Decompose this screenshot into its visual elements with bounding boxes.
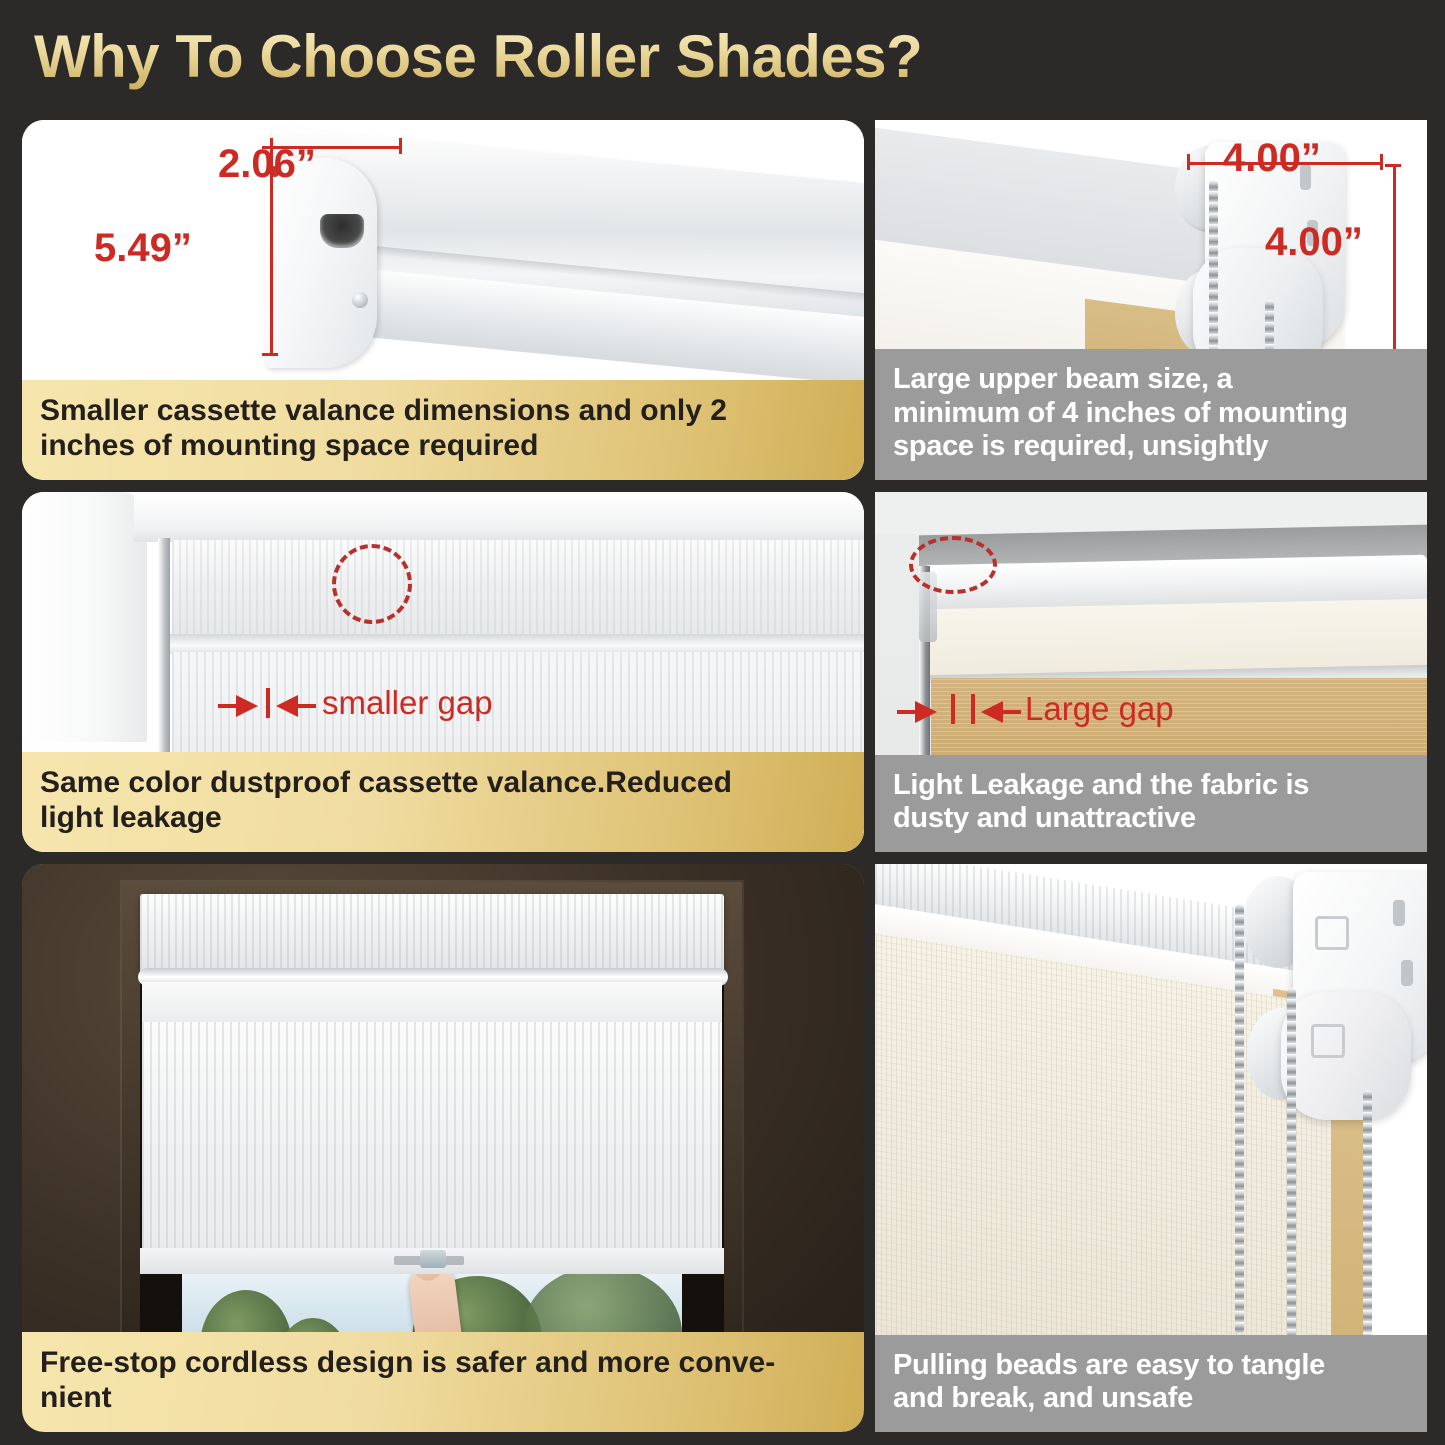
caption-line: Free-stop cordless design is safer and m… — [40, 1346, 846, 1381]
window-frame-header — [134, 496, 864, 542]
gap-highlight-circle — [332, 544, 412, 624]
caption-pulling-beads: Pulling beads are easy to tangle and bre… — [875, 1335, 1427, 1432]
height-dimension-label: 5.49” — [94, 226, 192, 271]
beam-width-dimension-label: 4.00” — [1223, 136, 1321, 181]
mounting-bracket-lower — [1281, 992, 1411, 1120]
beam-height-dimension-line — [1393, 164, 1396, 364]
caption-line: Pulling beads are easy to tangle — [893, 1349, 1409, 1383]
beam-width-tick-left — [1187, 154, 1190, 170]
caption-cordless-design: Free-stop cordless design is safer and m… — [22, 1332, 864, 1432]
caption-line: space is required, unsightly — [893, 430, 1409, 464]
caption-line: Same color dustproof cassette valance.Re… — [40, 766, 846, 801]
panel-large-upper-beam: 4.00” 4.00” Large upper beam size, a min… — [875, 120, 1427, 480]
bracket-emblem-icon — [1311, 1024, 1345, 1058]
height-dimension-line — [270, 146, 273, 356]
panel-smaller-gap: smaller gap Same color dustproof cassett… — [22, 492, 864, 852]
pull-tab — [420, 1250, 446, 1268]
panel-light-leakage: Large gap Light Leakage and the fabric i… — [875, 492, 1427, 852]
shade-head-lower — [142, 982, 722, 1026]
height-dimension-tick-bottom — [262, 353, 278, 356]
caption-line: dusty and unattractive — [893, 802, 1409, 836]
smaller-gap-label: smaller gap — [322, 684, 493, 722]
height-dimension-tick-top — [262, 146, 278, 149]
caption-line: Light Leakage and the fabric is — [893, 769, 1409, 803]
blind-middle-rail — [168, 634, 864, 654]
shade-cassette-head — [140, 894, 724, 976]
large-gap-label: Large gap — [1025, 690, 1174, 728]
panel-pulling-beads: Pulling beads are easy to tangle and bre… — [875, 864, 1427, 1432]
beam-height-tick-top — [1385, 164, 1401, 167]
width-dimension-tick-right — [399, 138, 402, 154]
window-frame-outer — [22, 492, 147, 742]
caption-line: light leakage — [40, 801, 846, 836]
valance-slot — [320, 214, 364, 248]
gap-highlight-circle — [909, 536, 997, 594]
caption-light-leakage: Light Leakage and the fabric is dusty an… — [875, 755, 1427, 852]
panel-cassette-dimensions: 2.06” 5.49” Smaller cassette valance dim… — [22, 120, 864, 480]
beam-width-tick-right — [1380, 154, 1383, 170]
bracket-slot-upper — [1393, 900, 1405, 926]
caption-line: nient — [40, 1381, 846, 1416]
bracket-emblem-icon — [1315, 916, 1349, 950]
bracket-slot-lower — [1401, 960, 1413, 986]
caption-line: Large upper beam size, a — [893, 363, 1409, 397]
caption-large-upper-beam: Large upper beam size, a minimum of 4 in… — [875, 349, 1427, 480]
caption-smaller-gap: Same color dustproof cassette valance.Re… — [22, 752, 864, 852]
caption-line: minimum of 4 inches of mounting — [893, 397, 1409, 431]
caption-line: Smaller cassette valance dimensions and … — [40, 394, 846, 429]
valance-end-cap — [265, 158, 377, 368]
blind-upper-fabric — [172, 540, 864, 638]
caption-cassette-dimensions: Smaller cassette valance dimensions and … — [22, 380, 864, 480]
valance-screw — [352, 292, 368, 308]
caption-line: and break, and unsafe — [893, 1382, 1409, 1416]
bead-chain-middle — [1287, 988, 1296, 1338]
beam-height-dimension-label: 4.00” — [1265, 220, 1363, 265]
bead-chain-left — [1235, 904, 1244, 1334]
caption-line: inches of mounting space required — [40, 429, 846, 464]
page-title: Why To Choose Roller Shades? — [34, 18, 1034, 96]
shade-fabric — [142, 1022, 722, 1254]
comparison-grid: 2.06” 5.49” Smaller cassette valance dim… — [0, 108, 1445, 1445]
panel-cordless-design: Free-stop cordless design is safer and m… — [22, 864, 864, 1432]
bead-chain-right — [1363, 1090, 1372, 1340]
